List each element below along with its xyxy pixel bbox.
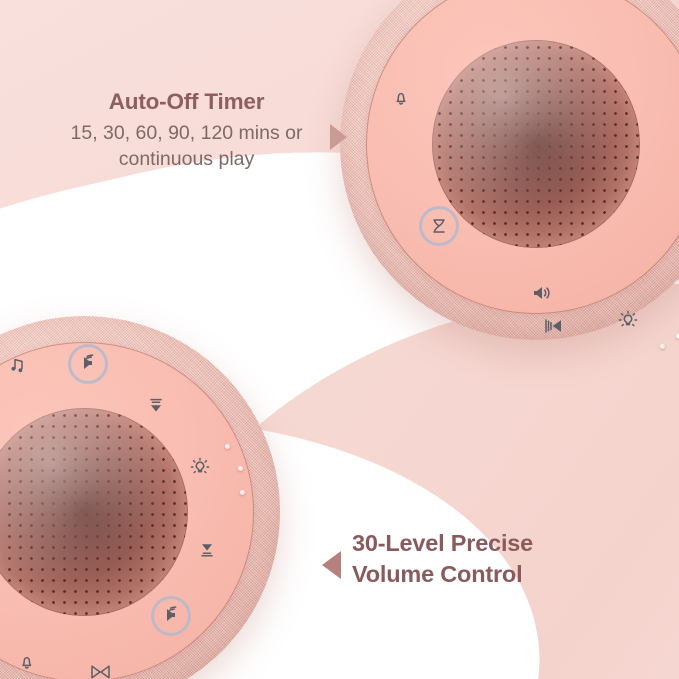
volume-up-arrow-icon [146,397,166,413]
previous-track-icon [542,318,564,334]
device-speaker-grille [432,40,640,248]
callout-body-line-2: continuous play [34,147,339,173]
callout-marker-triangle-left [322,551,341,579]
control-bell-icon[interactable] [10,645,44,679]
control-volume-down-icon[interactable] [154,599,188,633]
control-volume-up-icon[interactable] [525,276,559,310]
hourglass-icon [430,216,448,236]
callout-volume-control: 30-Level Precise Volume Control [352,528,662,589]
volume-up-icon [531,284,553,302]
next-track-icon [88,664,114,679]
control-bell-icon[interactable] [384,81,418,115]
control-volume-up-icon[interactable] [71,347,105,381]
control-music-note-icon[interactable] [1,348,35,382]
volume-down-icon [160,607,182,625]
grille-sheen [432,40,640,248]
light-bulb-icon [617,309,639,331]
indicator-led [225,444,230,449]
indicator-led [660,344,665,349]
bell-icon [391,88,411,108]
callout-marker-triangle-right [330,124,347,150]
control-volume-up-arrow-icon[interactable] [139,388,173,422]
callout-title: Auto-Off Timer [34,88,339,116]
callout-title-line-1: 30-Level Precise [352,528,662,559]
control-hourglass-icon[interactable] [422,209,456,243]
control-light-bulb-icon[interactable] [183,450,217,484]
control-light-bulb-icon[interactable] [611,303,645,337]
callout-auto-off-timer: Auto-Off Timer 15, 30, 60, 90, 120 mins … [34,88,339,173]
music-note-icon [8,355,28,375]
indicator-led [240,490,245,495]
light-bulb-icon [189,456,211,478]
callout-body-line-1: 15, 30, 60, 90, 120 mins or [34,121,339,147]
bell-icon [17,652,37,672]
indicator-led [238,466,243,471]
control-previous-track-icon[interactable] [536,309,570,343]
product-feature-image: Auto-Off Timer 15, 30, 60, 90, 120 mins … [0,0,679,679]
volume-down-arrow-icon [197,542,217,558]
volume-up-icon [77,355,99,373]
callout-title-line-2: Volume Control [352,559,662,590]
control-volume-down-arrow-icon[interactable] [190,533,224,567]
